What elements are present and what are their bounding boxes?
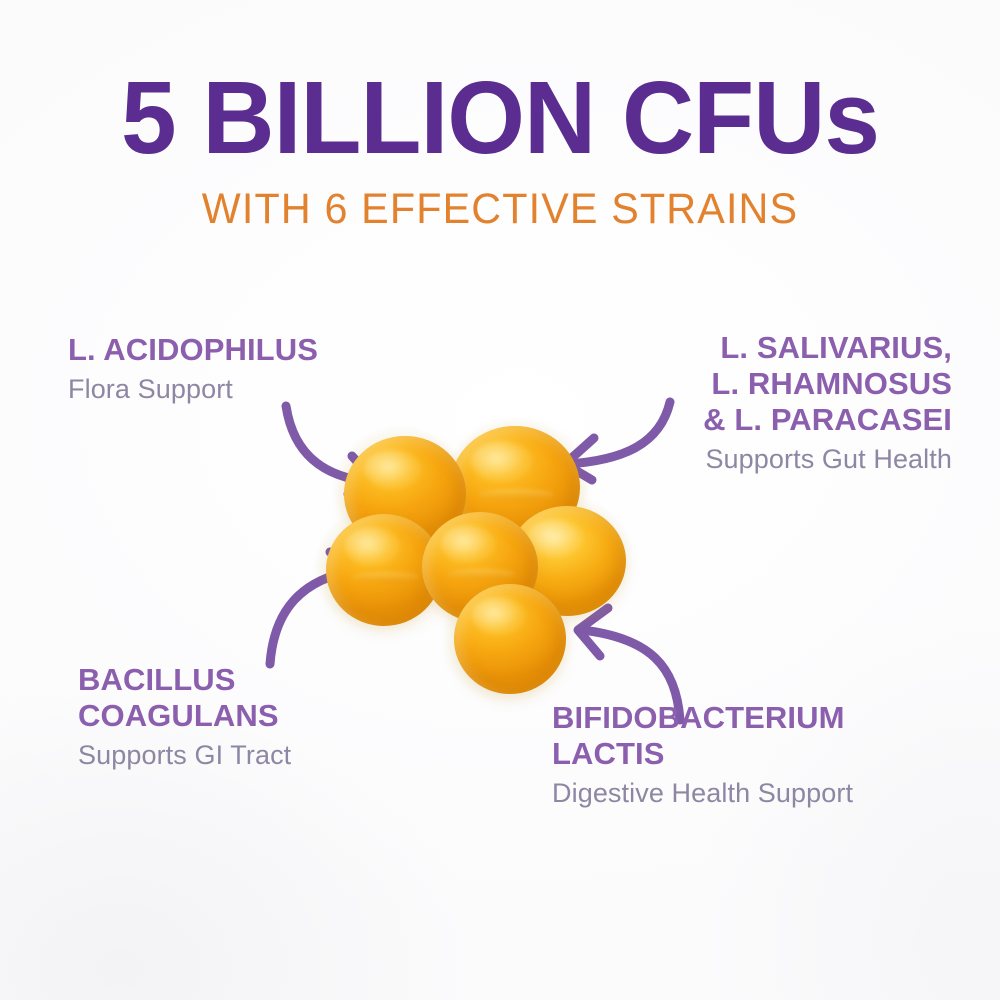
headline-block: 5 BILLION CFUs WITH 6 EFFECTIVE STRAINS [0,68,1000,234]
strain-benefit: Flora Support [68,373,318,405]
strain-name-line-2: L. RHAMNOSUS [703,366,952,402]
probiotic-gummies-cluster [318,420,628,700]
strain-name-line-2: LACTIS [552,736,853,772]
strain-label-bacillus-coagulans: BACILLUS COAGULANS Supports GI Tract [78,662,291,771]
strain-name-line-1: BIFIDOBACTERIUM [552,700,853,736]
gummy-piece [454,584,566,694]
page-subtitle: WITH 6 EFFECTIVE STRAINS [20,185,980,234]
strain-name-line-2: COAGULANS [78,698,291,734]
strain-label-acidophilus: L. ACIDOPHILUS Flora Support [68,332,318,405]
strain-name: L. ACIDOPHILUS [68,332,318,368]
page-title: 5 BILLION CFUs [15,68,985,169]
strain-name-line-1: L. SALIVARIUS, [703,330,952,366]
strain-label-salivarius-rhamnosus-paracasei: L. SALIVARIUS, L. RHAMNOSUS & L. PARACAS… [703,330,952,475]
strain-name-line-3: & L. PARACASEI [703,402,952,438]
strain-label-bifidobacterium-lactis: BIFIDOBACTERIUM LACTIS Digestive Health … [552,700,853,809]
infographic-canvas: 5 BILLION CFUs WITH 6 EFFECTIVE STRAINS [0,0,1000,1000]
strain-benefit: Digestive Health Support [552,777,853,809]
strain-benefit: Supports Gut Health [703,443,952,475]
strain-benefit: Supports GI Tract [78,739,291,771]
strain-name-line-1: BACILLUS [78,662,291,698]
